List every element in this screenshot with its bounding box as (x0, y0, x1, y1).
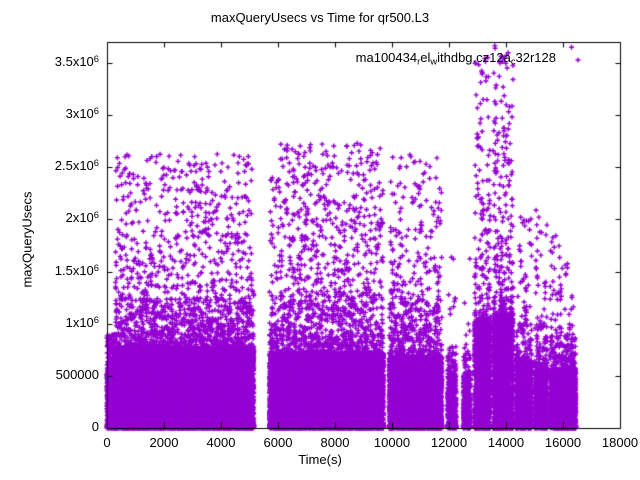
y-tick-label: 3x106 (3, 106, 99, 121)
scatter-plot-canvas (0, 0, 640, 480)
y-tick-label: 2.5x106 (3, 158, 99, 173)
chart-title: maxQueryUsecs vs Time for qr500.L3 (0, 10, 640, 25)
y-tick-label: 500000 (3, 367, 99, 382)
chart-screenshot: maxQueryUsecs vs Time for qr500.L3 ma100… (0, 0, 640, 480)
x-tick-label: 18000 (575, 435, 640, 450)
y-tick-label: 3.5x106 (3, 54, 99, 69)
y-tick-label: 2x106 (3, 210, 99, 225)
y-tick-label: 1.5x106 (3, 263, 99, 278)
x-axis-label: Time(s) (0, 452, 640, 467)
y-tick-label: 1x106 (3, 315, 99, 330)
y-tick-label: 0 (3, 419, 99, 434)
y-axis-label: maxQueryUsecs (20, 160, 35, 320)
